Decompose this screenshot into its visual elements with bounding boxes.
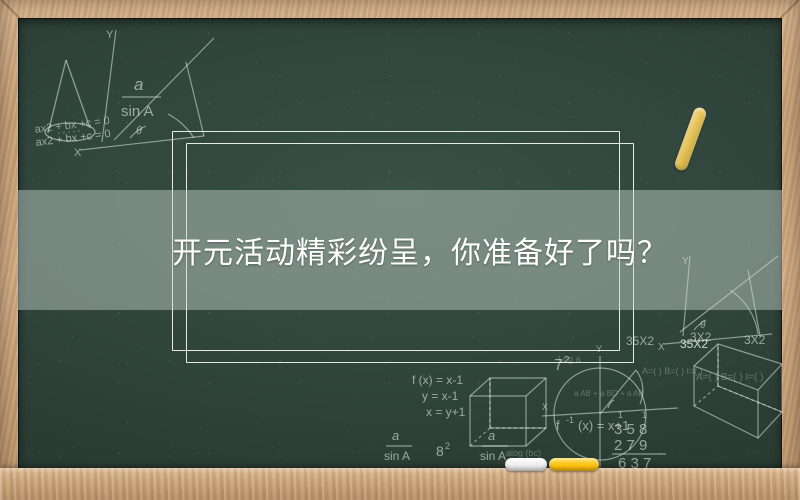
svg-text:a: a <box>392 428 399 443</box>
svg-text:f (x) = x-1: f (x) = x-1 <box>412 373 463 387</box>
svg-text:8: 8 <box>436 443 444 459</box>
page-title: 开元活动精彩纷呈，你准备好了吗？ <box>172 190 668 310</box>
fraction-a-over-sinA-topleft: a sin A <box>121 75 161 120</box>
term-3x2-text: 3X2 <box>690 330 711 344</box>
chalkboard-surface: a sin A ax2 + bx +c = 0 Y X <box>18 18 782 470</box>
svg-text:a AB + a BC + a AB: a AB + a BC + a AB <box>574 389 644 398</box>
svg-text:f: f <box>556 418 560 433</box>
svg-text:sin A: sin A <box>480 449 506 463</box>
inverse-function-text: f -1 (x) = x+1 <box>556 415 629 433</box>
svg-text:1: 1 <box>618 410 623 420</box>
chalk-ledge <box>0 468 800 500</box>
svg-text:X: X <box>542 402 548 412</box>
fx-line-2: y = x-1 <box>422 389 459 403</box>
blackboard-poster: a sin A ax2 + bx +c = 0 Y X <box>0 0 800 500</box>
matrix-expressions-text: A=( ) B=( ) I=( ) <box>642 366 703 376</box>
svg-text:y = x-1: y = x-1 <box>422 389 459 403</box>
svg-text:-1: -1 <box>566 415 574 425</box>
svg-text:sin A: sin A <box>121 103 154 120</box>
yellow-chalk-stick-floating <box>673 106 708 172</box>
fraction-a-over-sinA-bottom-left: a sin A <box>384 428 412 463</box>
svg-text:Y: Y <box>106 29 114 41</box>
faint-ab-expression: a AB + a BC + a AB <box>574 389 644 398</box>
fx-line-1: f (x) = x-1 <box>412 373 463 387</box>
cube-drawing-center <box>470 378 546 446</box>
svg-text:3X2: 3X2 <box>744 333 766 347</box>
svg-text:2: 2 <box>445 441 450 451</box>
svg-text:a: a <box>134 75 143 94</box>
term-35x2-label: 35X2 <box>680 337 708 351</box>
svg-text:3 5 8: 3 5 8 <box>614 421 647 438</box>
quadratic-equation-label: ax2 + bx +c = 0 <box>34 115 110 136</box>
svg-text:a: a <box>488 428 495 443</box>
svg-text:ax2 + bx +c = 0: ax2 + bx +c = 0 <box>35 128 111 149</box>
svg-text:A=( ) B=( ) I=( ): A=( ) B=( ) I=( ) <box>696 372 764 383</box>
quadratic-equation-text: ax2 + bx +c = 0 <box>35 128 111 149</box>
cone-drawing <box>45 60 95 141</box>
svg-text:θ: θ <box>700 320 706 331</box>
cube-drawing-right <box>694 344 782 438</box>
svg-text:X: X <box>74 147 82 159</box>
svg-text:X: X <box>658 342 665 353</box>
fx-line-3: x = y+1 <box>426 405 466 419</box>
alog-bc-label: alog (bc) <box>506 448 541 458</box>
svg-text:2 7 9: 2 7 9 <box>614 437 647 454</box>
svg-text:sin A: sin A <box>384 449 410 463</box>
square-eight: 8 2 <box>436 441 450 459</box>
svg-text:θ: θ <box>136 125 142 137</box>
svg-text:1: 1 <box>642 410 647 420</box>
term-3x2: 3X2 <box>744 333 766 347</box>
fraction-a-over-sinA-bottom-center: a sin A <box>480 428 508 463</box>
addition-sum: 1 1 3 5 8 2 7 9 6 3 7 <box>612 410 666 470</box>
svg-text:35X2: 35X2 <box>680 337 708 351</box>
white-chalk-stick <box>505 458 547 471</box>
matrix-expressions: A=( ) B=( ) I=( ) <box>696 372 764 383</box>
svg-text:x = y+1: x = y+1 <box>426 405 466 419</box>
term-35x2: 35X2 <box>680 337 708 351</box>
svg-text:(x) = x+1: (x) = x+1 <box>578 418 629 433</box>
yellow-chalk-stick <box>549 458 599 471</box>
